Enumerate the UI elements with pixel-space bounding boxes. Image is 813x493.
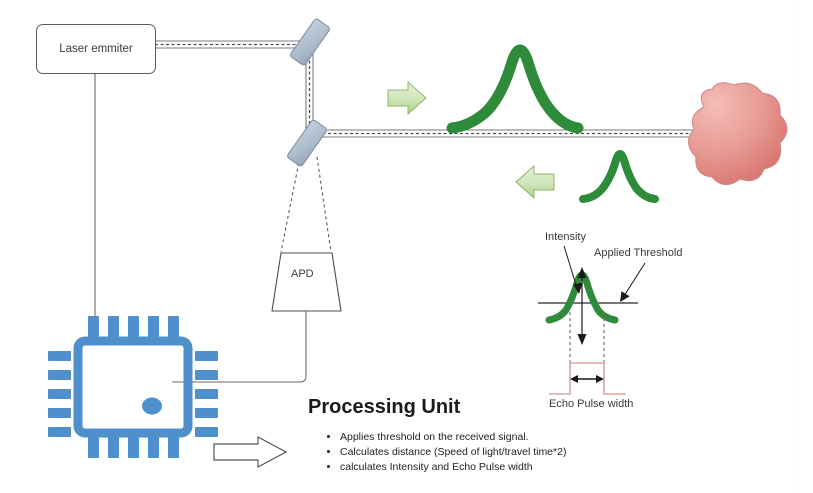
returning-pulse-waveform [583,154,655,199]
processor-chip-icon [48,316,218,458]
list-item: Calculates distance (Speed of light/trav… [340,445,654,460]
mirror-icon-top [289,18,330,66]
laser-emitter-box: Laser emmiter [36,24,156,74]
green-arrow-left-icon [516,166,554,198]
pulse-width-arrow-head-right [596,375,604,383]
list-item: calculates Intensity and Echo Pulse widt… [340,460,654,475]
intensity-arrow-head-down [578,334,587,345]
outgoing-pulse-waveform [452,50,578,128]
outline-arrow-right-icon [214,437,286,467]
target-cloud-icon [688,83,787,185]
beam-to-target [306,130,700,137]
intensity-arrow-head-up [578,267,587,278]
echo-pulse-width-label: Echo Pulse width [549,398,633,410]
laser-emitter-label: Laser emmiter [59,43,133,56]
intensity-leader [564,246,577,288]
beam-top-horizontal [155,41,312,48]
lidar-diagram-canvas: Laser emmiter APD Processing Unit Applie… [0,0,813,493]
apd-label: APD [291,268,314,280]
processing-unit-heading: Processing Unit [308,396,460,419]
mirror-icon-bottom [286,119,327,167]
intensity-label: Intensity [545,231,586,243]
processing-unit-bullet-list: Applies threshold on the received signal… [324,430,654,476]
pulse-width-arrow-head-left [570,375,578,383]
threshold-leader [624,263,645,296]
threshold-leader-head [620,291,630,302]
list-item: Applies threshold on the received signal… [340,430,654,445]
green-arrow-right-icon [388,82,426,114]
threshold-plot [538,246,645,394]
detection-cone [281,157,331,252]
applied-threshold-label: Applied Threshold [594,247,682,259]
apd-body [272,253,341,311]
